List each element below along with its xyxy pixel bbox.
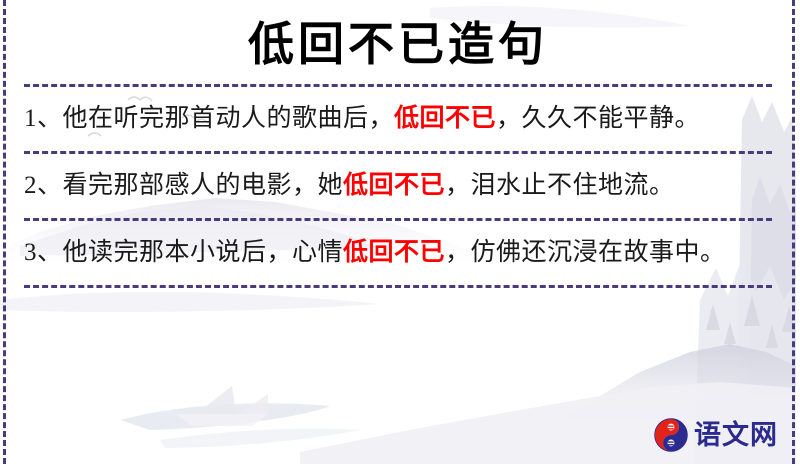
- sentence-1-index: 1、: [24, 105, 63, 132]
- example-sentence-3: 3、他读完那本小说后，心情低回不已，仿佛还沉浸在故事中。: [22, 221, 774, 285]
- page-title: 低回不已造句: [22, 0, 774, 84]
- site-logo-text: 语文网: [694, 422, 778, 449]
- sentence-1-highlight: 低回不已: [394, 105, 496, 132]
- page-edge-left: [3, 0, 6, 464]
- page-edge-right: [792, 0, 795, 464]
- sentence-2-before: 看完那部感人的电影，她: [63, 172, 344, 199]
- sentence-3-highlight: 低回不已: [343, 239, 445, 266]
- yinyang-circle-icon: [654, 418, 688, 452]
- sentence-1-before: 他在听完那首动人的歌曲后，: [63, 105, 395, 132]
- sentence-1-after: ，久久不能平静。: [496, 105, 700, 132]
- site-logo: 语文网: [654, 418, 778, 452]
- sentence-2-highlight: 低回不已: [343, 172, 445, 199]
- example-sentence-1: 1、他在听完那首动人的歌曲后，低回不已，久久不能平静。: [22, 87, 774, 151]
- sentence-3-before: 他读完那本小说后，心情: [63, 239, 344, 266]
- divider-bottom: [24, 285, 772, 288]
- example-sentence-2: 2、看完那部感人的电影，她低回不已，泪水止不住地流。: [22, 154, 774, 218]
- sentence-3-index: 3、: [24, 239, 63, 266]
- sentence-3-after: ，仿佛还沉浸在故事中。: [445, 239, 726, 266]
- worksheet-content: 低回不已造句 1、他在听完那首动人的歌曲后，低回不已，久久不能平静。 2、看完那…: [0, 0, 800, 464]
- sentence-2-after: ，泪水止不住地流。: [445, 172, 675, 199]
- worksheet-page: 低回不已造句 1、他在听完那首动人的歌曲后，低回不已，久久不能平静。 2、看完那…: [0, 0, 800, 464]
- sentence-2-index: 2、: [24, 172, 63, 199]
